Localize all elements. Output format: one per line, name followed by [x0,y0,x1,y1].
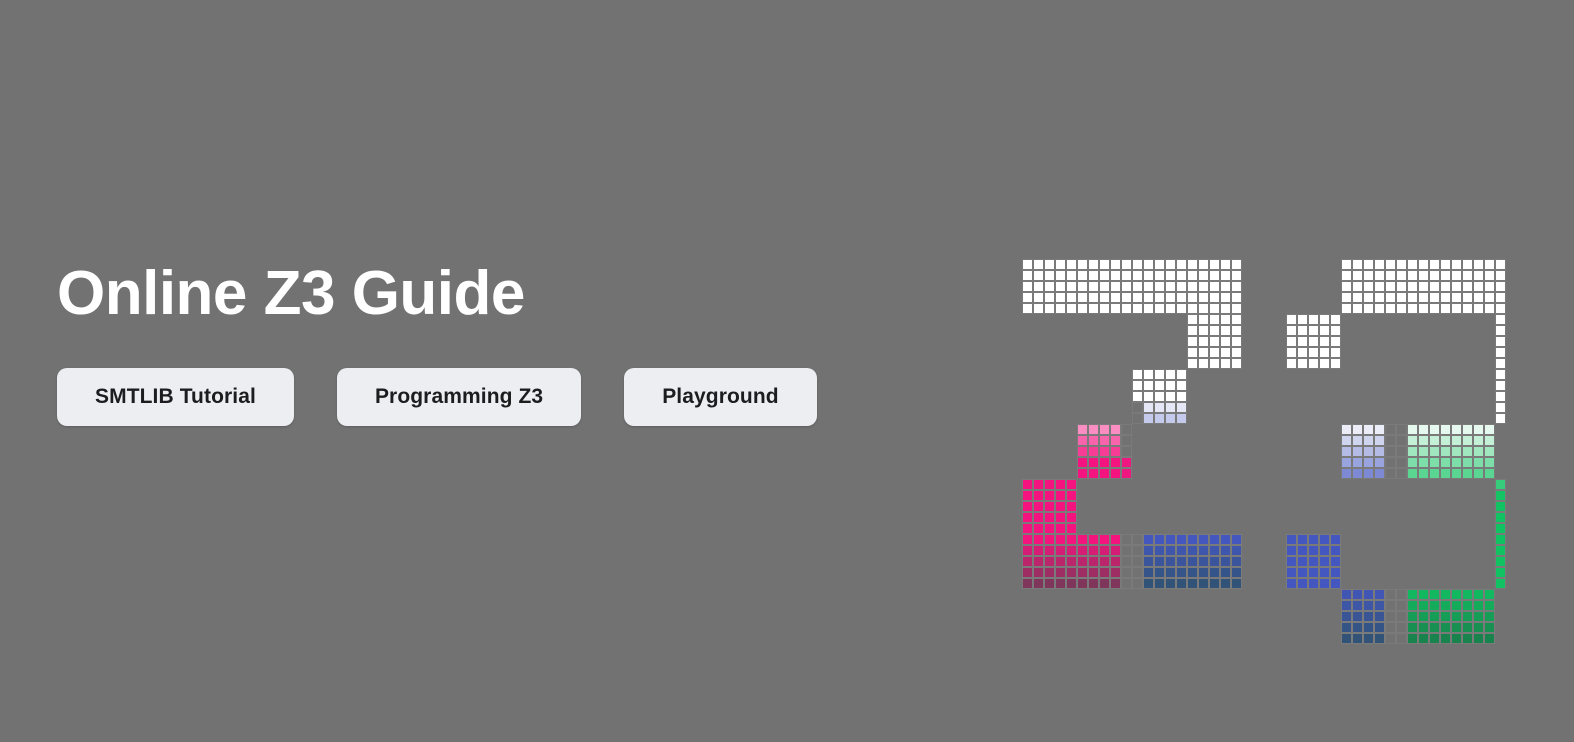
logo-pixel [1066,512,1077,523]
logo-pixel [1088,567,1099,578]
logo-pixel [1341,633,1352,644]
logo-pixel [1220,567,1231,578]
logo-pixel [1110,534,1121,545]
logo-pixel [1462,270,1473,281]
logo-pixel [1198,270,1209,281]
logo-pixel [1187,281,1198,292]
logo-pixel [1429,633,1440,644]
logo-pixel [1451,259,1462,270]
logo-pixel [1462,259,1473,270]
logo-pixel [1385,435,1396,446]
logo-pixel [1495,545,1506,556]
smtlib-tutorial-button[interactable]: SMTLIB Tutorial [57,368,294,426]
logo-pixel [1055,578,1066,589]
logo-pixel [1462,589,1473,600]
logo-pixel [1209,556,1220,567]
logo-pixel [1385,424,1396,435]
logo-pixel [1297,567,1308,578]
logo-pixel [1088,435,1099,446]
logo-pixel [1308,347,1319,358]
logo-pixel [1154,556,1165,567]
logo-pixel [1055,292,1066,303]
logo-pixel [1198,578,1209,589]
logo-pixel [1495,281,1506,292]
logo-pixel [1198,325,1209,336]
logo-pixel [1022,523,1033,534]
logo-pixel [1363,633,1374,644]
logo-pixel [1429,468,1440,479]
logo-pixel [1220,292,1231,303]
logo-pixel [1418,270,1429,281]
hero-text-column: Online Z3 Guide SMTLIB Tutorial Programm… [57,258,957,426]
logo-pixel [1451,633,1462,644]
logo-pixel [1121,303,1132,314]
logo-pixel [1363,270,1374,281]
logo-pixel [1099,567,1110,578]
logo-pixel [1231,578,1242,589]
logo-pixel [1099,281,1110,292]
programming-z3-button[interactable]: Programming Z3 [337,368,581,426]
logo-pixel [1198,545,1209,556]
logo-pixel [1121,457,1132,468]
logo-pixel [1044,578,1055,589]
logo-glyph-3 [1286,259,1506,644]
logo-pixel [1352,424,1363,435]
logo-pixel [1451,611,1462,622]
logo-pixel [1418,281,1429,292]
logo-pixel [1044,259,1055,270]
logo-pixel [1055,281,1066,292]
logo-pixel [1110,424,1121,435]
logo-pixel [1154,380,1165,391]
logo-pixel [1088,468,1099,479]
logo-pixel [1418,589,1429,600]
logo-pixel [1198,292,1209,303]
logo-pixel [1407,622,1418,633]
logo-pixel [1066,501,1077,512]
logo-pixel [1110,457,1121,468]
logo-pixel [1220,314,1231,325]
logo-pixel [1319,325,1330,336]
logo-pixel [1176,578,1187,589]
logo-pixel [1033,259,1044,270]
logo-pixel [1462,292,1473,303]
logo-pixel [1132,380,1143,391]
logo-pixel [1066,578,1077,589]
logo-pixel [1418,622,1429,633]
logo-pixel [1495,578,1506,589]
logo-pixel [1110,446,1121,457]
logo-pixel [1319,347,1330,358]
logo-pixel [1363,424,1374,435]
logo-pixel [1374,611,1385,622]
logo-pixel [1176,545,1187,556]
logo-pixel [1209,336,1220,347]
logo-pixel [1451,589,1462,600]
logo-pixel [1297,358,1308,369]
logo-pixel [1088,292,1099,303]
logo-pixel [1209,567,1220,578]
logo-pixel [1198,259,1209,270]
logo-pixel [1407,270,1418,281]
logo-pixel [1209,303,1220,314]
logo-pixel [1341,303,1352,314]
logo-pixel [1066,292,1077,303]
logo-pixel [1352,622,1363,633]
logo-pixel [1088,578,1099,589]
logo-pixel [1088,303,1099,314]
logo-pixel [1033,281,1044,292]
logo-pixel [1352,292,1363,303]
logo-pixel [1495,292,1506,303]
logo-pixel [1473,468,1484,479]
logo-pixel [1473,611,1484,622]
logo-pixel [1418,424,1429,435]
logo-pixel [1187,556,1198,567]
logo-pixel [1022,479,1033,490]
logo-pixel [1462,600,1473,611]
logo-pixel [1187,270,1198,281]
logo-pixel [1462,622,1473,633]
logo-pixel [1341,457,1352,468]
logo-pixel [1110,567,1121,578]
logo-pixel [1165,369,1176,380]
logo-pixel [1374,622,1385,633]
logo-pixel [1088,281,1099,292]
logo-pixel [1418,435,1429,446]
logo-pixel [1385,622,1396,633]
logo-pixel [1440,589,1451,600]
logo-pixel [1473,435,1484,446]
logo-pixel [1110,259,1121,270]
logo-pixel [1033,490,1044,501]
logo-pixel [1495,358,1506,369]
logo-pixel [1220,358,1231,369]
logo-pixel [1418,303,1429,314]
logo-pixel [1099,578,1110,589]
logo-pixel [1286,578,1297,589]
logo-pixel [1165,259,1176,270]
logo-pixel [1429,259,1440,270]
page-title: Online Z3 Guide [57,258,957,330]
logo-pixel [1110,303,1121,314]
logo-pixel [1341,600,1352,611]
logo-pixel [1484,424,1495,435]
logo-pixel [1418,468,1429,479]
logo-pixel [1396,589,1407,600]
logo-pixel [1088,446,1099,457]
logo-pixel [1341,611,1352,622]
logo-pixel [1473,457,1484,468]
logo-pixel [1121,545,1132,556]
logo-pixel [1396,446,1407,457]
logo-pixel [1121,259,1132,270]
logo-pixel [1352,259,1363,270]
logo-pixel [1429,457,1440,468]
logo-pixel [1440,622,1451,633]
logo-pixel [1033,479,1044,490]
logo-pixel [1066,545,1077,556]
logo-pixel [1308,534,1319,545]
logo-pixel [1022,490,1033,501]
logo-pixel [1286,567,1297,578]
logo-pixel [1220,545,1231,556]
logo-pixel [1077,457,1088,468]
logo-pixel [1044,567,1055,578]
logo-pixel [1407,281,1418,292]
logo-pixel [1374,281,1385,292]
logo-pixel [1429,424,1440,435]
logo-pixel [1099,270,1110,281]
logo-pixel [1143,380,1154,391]
logo-pixel [1220,336,1231,347]
logo-pixel [1209,292,1220,303]
logo-pixel [1484,303,1495,314]
logo-glyph-z [1022,259,1242,589]
logo-pixel [1451,270,1462,281]
logo-pixel [1286,358,1297,369]
logo-pixel [1198,303,1209,314]
logo-pixel [1209,534,1220,545]
logo-pixel [1308,314,1319,325]
logo-pixel [1077,303,1088,314]
logo-pixel [1462,435,1473,446]
logo-pixel [1484,611,1495,622]
logo-pixel [1231,292,1242,303]
logo-pixel [1407,292,1418,303]
logo-pixel [1352,600,1363,611]
logo-pixel [1341,589,1352,600]
logo-pixel [1220,347,1231,358]
logo-pixel [1022,259,1033,270]
logo-pixel [1319,534,1330,545]
logo-pixel [1330,578,1341,589]
logo-pixel [1132,413,1143,424]
logo-pixel [1143,578,1154,589]
playground-button[interactable]: Playground [624,368,817,426]
logo-pixel [1495,303,1506,314]
logo-pixel [1451,600,1462,611]
logo-pixel [1341,622,1352,633]
logo-pixel [1462,424,1473,435]
logo-pixel [1220,556,1231,567]
logo-pixel [1407,633,1418,644]
logo-pixel [1451,292,1462,303]
logo-pixel [1440,633,1451,644]
logo-pixel [1176,391,1187,402]
logo-pixel [1066,490,1077,501]
logo-pixel [1429,622,1440,633]
logo-pixel [1110,281,1121,292]
logo-pixel [1187,292,1198,303]
logo-pixel [1451,281,1462,292]
logo-pixel [1396,468,1407,479]
logo-pixel [1077,259,1088,270]
logo-pixel [1473,589,1484,600]
logo-pixel [1495,490,1506,501]
logo-pixel [1088,545,1099,556]
logo-pixel [1176,270,1187,281]
logo-pixel [1451,424,1462,435]
logo-pixel [1198,347,1209,358]
logo-pixel [1154,303,1165,314]
logo-pixel [1088,270,1099,281]
logo-pixel [1374,468,1385,479]
logo-pixel [1055,270,1066,281]
logo-pixel [1033,292,1044,303]
logo-pixel [1495,391,1506,402]
logo-pixel [1022,578,1033,589]
logo-pixel [1187,325,1198,336]
logo-pixel [1495,479,1506,490]
logo-pixel [1341,259,1352,270]
logo-pixel [1363,622,1374,633]
logo-pixel [1385,589,1396,600]
logo-pixel [1176,402,1187,413]
logo-pixel [1484,435,1495,446]
logo-pixel [1055,512,1066,523]
logo-pixel [1473,446,1484,457]
cta-button-row: SMTLIB Tutorial Programming Z3 Playgroun… [57,368,957,426]
logo-pixel [1099,545,1110,556]
logo-pixel [1220,259,1231,270]
logo-pixel [1220,534,1231,545]
logo-pixel [1176,556,1187,567]
logo-pixel [1374,589,1385,600]
logo-pixel [1209,281,1220,292]
logo-pixel [1352,457,1363,468]
logo-pixel [1352,270,1363,281]
logo-pixel [1077,435,1088,446]
logo-pixel [1077,468,1088,479]
logo-pixel [1407,259,1418,270]
logo-pixel [1473,292,1484,303]
logo-pixel [1055,523,1066,534]
logo-pixel [1099,534,1110,545]
logo-pixel [1308,325,1319,336]
logo-pixel [1297,534,1308,545]
logo-pixel [1044,490,1055,501]
logo-pixel [1319,578,1330,589]
logo-pixel [1077,534,1088,545]
logo-pixel [1462,633,1473,644]
logo-pixel [1132,567,1143,578]
logo-pixel [1132,578,1143,589]
logo-pixel [1176,380,1187,391]
logo-pixel [1033,578,1044,589]
logo-pixel [1154,567,1165,578]
logo-pixel [1451,435,1462,446]
logo-pixel [1143,413,1154,424]
logo-pixel [1198,314,1209,325]
logo-pixel [1209,259,1220,270]
logo-pixel [1385,600,1396,611]
logo-pixel [1110,545,1121,556]
logo-pixel [1308,336,1319,347]
logo-pixel [1407,457,1418,468]
logo-pixel [1495,501,1506,512]
logo-pixel [1440,303,1451,314]
logo-pixel [1330,347,1341,358]
logo-pixel [1187,303,1198,314]
logo-pixel [1396,281,1407,292]
logo-pixel [1143,270,1154,281]
logo-pixel [1495,534,1506,545]
logo-pixel [1110,556,1121,567]
logo-pixel [1473,600,1484,611]
logo-pixel [1231,303,1242,314]
logo-pixel [1308,556,1319,567]
logo-pixel [1209,314,1220,325]
logo-pixel [1484,292,1495,303]
logo-pixel [1286,336,1297,347]
logo-pixel [1209,358,1220,369]
logo-pixel [1044,281,1055,292]
logo-pixel [1132,259,1143,270]
logo-pixel [1165,413,1176,424]
logo-pixel [1209,578,1220,589]
logo-pixel [1440,270,1451,281]
logo-pixel [1495,556,1506,567]
logo-pixel [1132,402,1143,413]
logo-pixel [1033,567,1044,578]
logo-pixel [1220,303,1231,314]
logo-pixel [1319,314,1330,325]
logo-pixel [1440,292,1451,303]
logo-pixel [1495,523,1506,534]
logo-pixel [1209,347,1220,358]
logo-pixel [1022,270,1033,281]
logo-pixel [1154,281,1165,292]
logo-pixel [1187,534,1198,545]
logo-pixel [1077,567,1088,578]
logo-pixel [1407,435,1418,446]
logo-pixel [1066,259,1077,270]
logo-pixel [1022,292,1033,303]
logo-pixel [1121,567,1132,578]
logo-pixel [1495,512,1506,523]
logo-pixel [1495,369,1506,380]
logo-pixel [1462,457,1473,468]
logo-pixel [1044,512,1055,523]
logo-pixel [1231,270,1242,281]
logo-pixel [1396,622,1407,633]
logo-pixel [1088,556,1099,567]
logo-pixel [1396,270,1407,281]
logo-pixel [1132,391,1143,402]
logo-pixel [1066,523,1077,534]
logo-pixel [1165,281,1176,292]
logo-pixel [1154,270,1165,281]
logo-pixel [1077,281,1088,292]
logo-pixel [1055,303,1066,314]
logo-pixel [1143,402,1154,413]
logo-pixel [1121,556,1132,567]
logo-pixel [1352,633,1363,644]
hero-section: Online Z3 Guide SMTLIB Tutorial Programm… [0,0,1574,742]
logo-pixel [1033,545,1044,556]
logo-pixel [1077,292,1088,303]
logo-pixel [1407,424,1418,435]
logo-pixel [1231,336,1242,347]
logo-pixel [1451,446,1462,457]
logo-pixel [1022,556,1033,567]
logo-pixel [1495,336,1506,347]
logo-pixel [1374,292,1385,303]
logo-pixel [1033,501,1044,512]
logo-pixel [1363,303,1374,314]
logo-pixel [1066,270,1077,281]
